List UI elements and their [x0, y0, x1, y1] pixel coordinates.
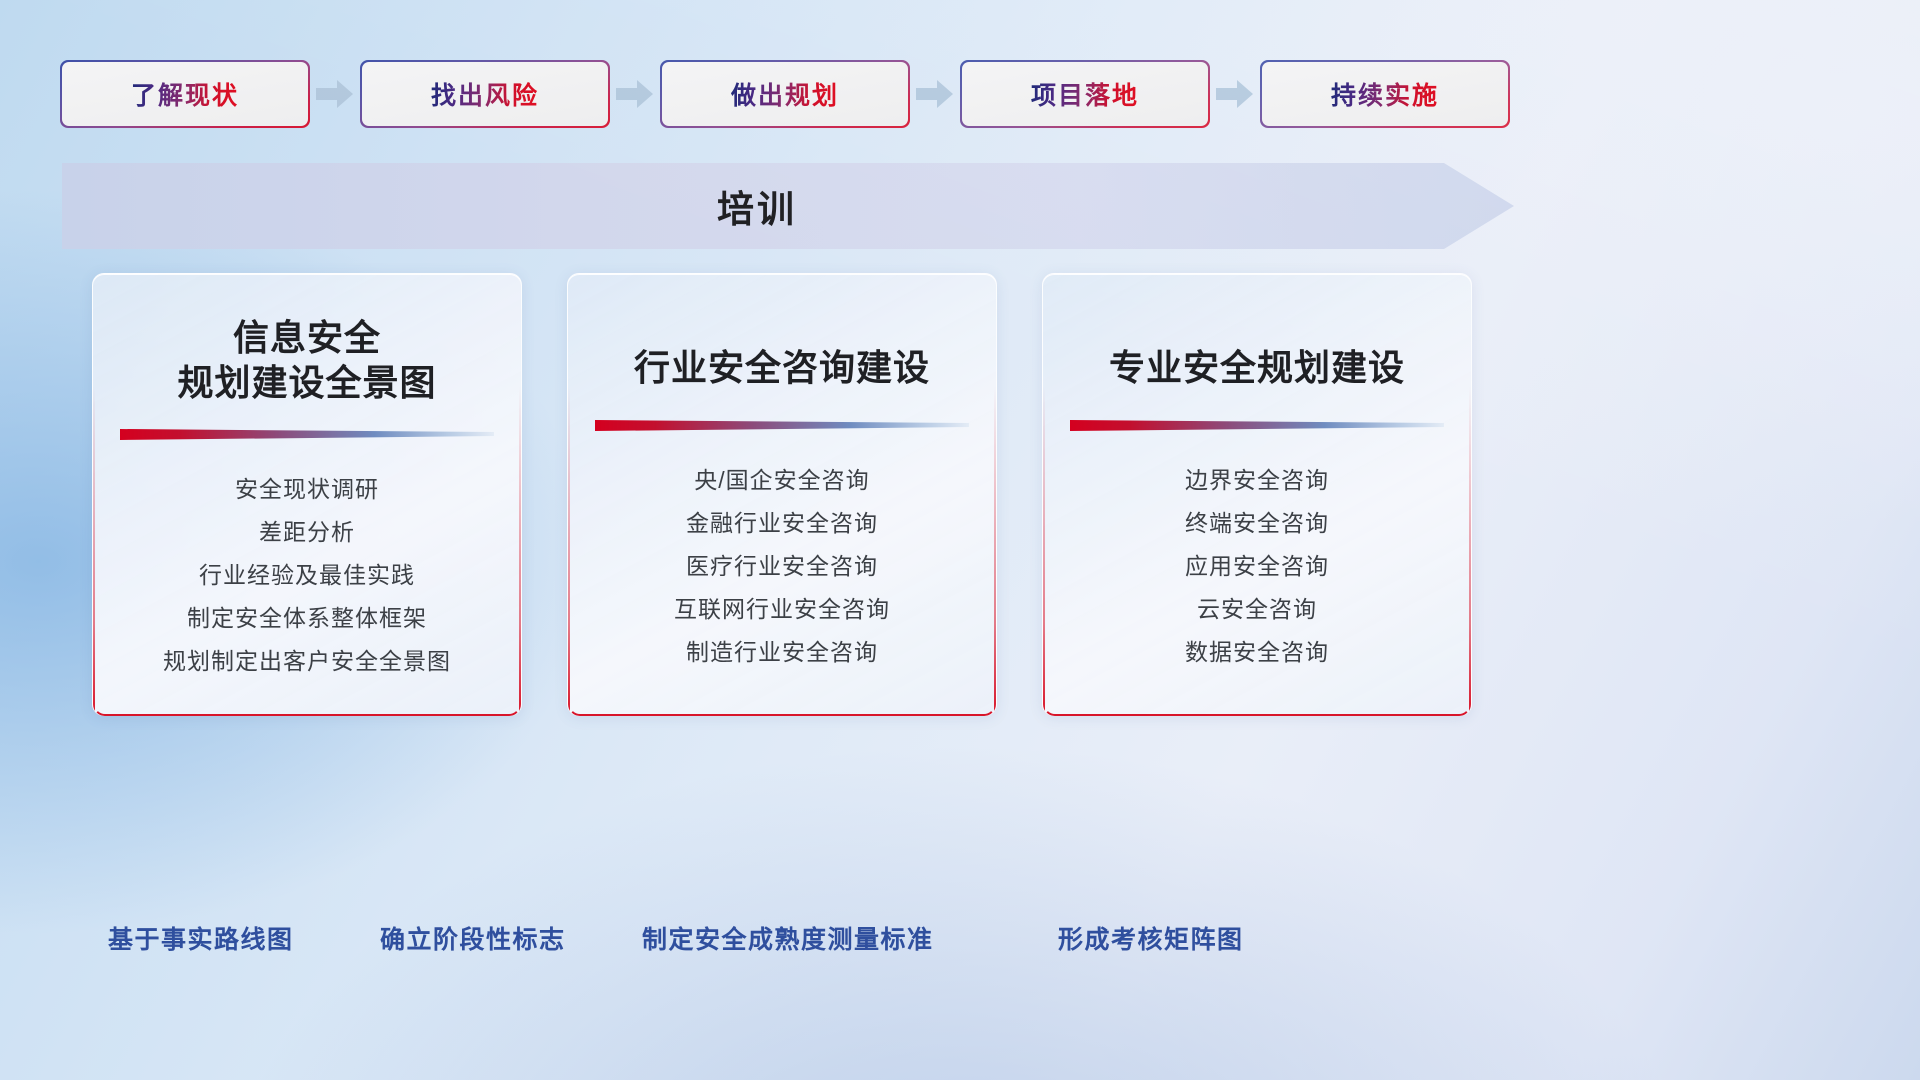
process-step-label: 做出规划: [731, 76, 839, 112]
process-step-1[interactable]: 了解现状: [62, 62, 308, 126]
card-divider: [1070, 418, 1444, 431]
list-item[interactable]: 应用安全咨询: [1185, 545, 1329, 588]
service-card-2[interactable]: 行业安全咨询建设央/国企安全咨询金融行业安全咨询医疗行业安全咨询互联网行业安全咨…: [567, 273, 997, 716]
footnote-row: 基于事实路线图确立阶段性标志制定安全成熟度测量标准形成考核矩阵图: [0, 920, 1920, 970]
process-step-2[interactable]: 找出风险: [362, 62, 608, 126]
card-item-list: 安全现状调研差距分析行业经验及最佳实践制定安全体系整体框架规划制定出客户安全全景…: [163, 468, 451, 683]
footnote-label-1: 基于事实路线图: [108, 920, 294, 956]
card-content: 信息安全 规划建设全景图安全现状调研差距分析行业经验及最佳实践制定安全体系整体框…: [93, 274, 521, 716]
process-step-label: 持续实施: [1331, 76, 1439, 112]
list-item[interactable]: 规划制定出客户安全全景图: [163, 640, 451, 683]
process-step-label: 找出风险: [431, 76, 539, 112]
arrow-right-icon: [908, 62, 962, 126]
list-item[interactable]: 安全现状调研: [163, 468, 451, 511]
banner-title: 培训: [62, 163, 1514, 249]
arrow-right-icon: [1208, 62, 1262, 126]
arrow-right-icon: [308, 62, 362, 126]
list-item[interactable]: 云安全咨询: [1185, 588, 1329, 631]
process-step-3[interactable]: 做出规划: [662, 62, 908, 126]
process-step-5[interactable]: 持续实施: [1262, 62, 1508, 126]
list-item[interactable]: 终端安全咨询: [1185, 502, 1329, 545]
process-step-label: 了解现状: [131, 76, 239, 112]
arrow-right-icon: [608, 62, 662, 126]
card-item-list: 央/国企安全咨询金融行业安全咨询医疗行业安全咨询互联网行业安全咨询制造行业安全咨…: [674, 459, 890, 674]
card-title: 信息安全 规划建设全景图: [177, 316, 436, 405]
slide-canvas: 了解现状找出风险做出规划项目落地持续实施 培训 信息安全 规划建设全景图安全现状…: [0, 0, 1920, 1080]
footnote-label-2: 确立阶段性标志: [380, 920, 566, 956]
list-item[interactable]: 央/国企安全咨询: [674, 459, 890, 502]
process-step-flow: 了解现状找出风险做出规划项目落地持续实施: [62, 62, 1508, 126]
footnote-label-4: 形成考核矩阵图: [1058, 920, 1244, 956]
footnote-label-3: 制定安全成熟度测量标准: [642, 920, 934, 956]
card-item-list: 边界安全咨询终端安全咨询应用安全咨询云安全咨询数据安全咨询: [1185, 459, 1329, 674]
card-title: 行业安全咨询建设: [634, 346, 930, 396]
card-divider: [595, 418, 969, 431]
service-card-1[interactable]: 信息安全 规划建设全景图安全现状调研差距分析行业经验及最佳实践制定安全体系整体框…: [92, 273, 522, 716]
process-step-label: 项目落地: [1031, 76, 1139, 112]
service-card-3[interactable]: 专业安全规划建设边界安全咨询终端安全咨询应用安全咨询云安全咨询数据安全咨询: [1042, 273, 1472, 716]
card-title: 专业安全规划建设: [1109, 346, 1405, 396]
process-step-4[interactable]: 项目落地: [962, 62, 1208, 126]
list-item[interactable]: 制定安全体系整体框架: [163, 597, 451, 640]
list-item[interactable]: 数据安全咨询: [1185, 631, 1329, 674]
list-item[interactable]: 边界安全咨询: [1185, 459, 1329, 502]
card-divider: [120, 427, 494, 440]
list-item[interactable]: 金融行业安全咨询: [674, 502, 890, 545]
list-item[interactable]: 互联网行业安全咨询: [674, 588, 890, 631]
card-content: 行业安全咨询建设央/国企安全咨询金融行业安全咨询医疗行业安全咨询互联网行业安全咨…: [568, 274, 996, 716]
list-item[interactable]: 制造行业安全咨询: [674, 631, 890, 674]
card-content: 专业安全规划建设边界安全咨询终端安全咨询应用安全咨询云安全咨询数据安全咨询: [1043, 274, 1471, 716]
training-banner: 培训: [62, 163, 1514, 249]
list-item[interactable]: 医疗行业安全咨询: [674, 545, 890, 588]
list-item[interactable]: 行业经验及最佳实践: [163, 554, 451, 597]
card-row: 信息安全 规划建设全景图安全现状调研差距分析行业经验及最佳实践制定安全体系整体框…: [92, 273, 1472, 716]
list-item[interactable]: 差距分析: [163, 511, 451, 554]
